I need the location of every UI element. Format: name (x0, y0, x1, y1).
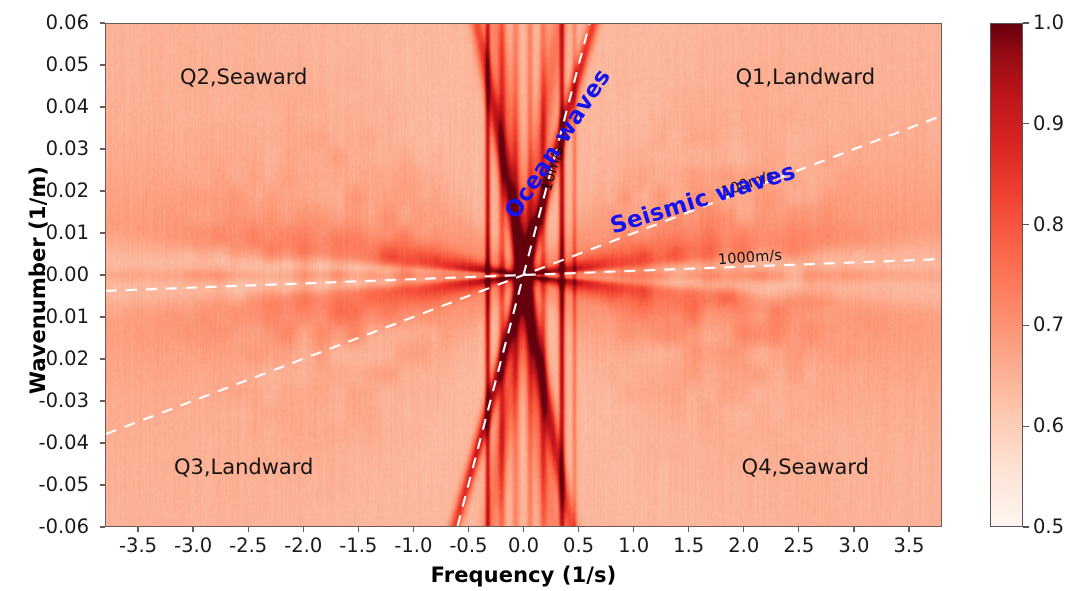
y-tick-label: -0.05 (39, 475, 89, 495)
y-tick-mark (100, 400, 105, 401)
x-tick-mark (248, 527, 249, 532)
x-axis-tick-labels: -3.5-3.0-2.5-2.0-1.5-1.0-0.50.00.51.01.5… (0, 536, 1087, 566)
colorbar-tick-mark (1023, 123, 1029, 124)
x-tick-mark (578, 527, 579, 532)
colorbar-tick-label: 0.6 (1033, 416, 1064, 436)
y-tick-label: -0.04 (39, 433, 89, 453)
y-tick-mark (100, 358, 105, 359)
y-axis-title: Wavenumber (1/m) (26, 130, 50, 430)
colorbar-tick-mark (1023, 224, 1029, 225)
colorbar-tick-mark (1023, 526, 1029, 527)
x-tick-mark (743, 527, 744, 532)
y-tick-label: 0.03 (46, 139, 89, 159)
y-tick-mark (100, 148, 105, 149)
colorbar-container[interactable]: 1.00.90.80.70.60.5 (990, 23, 1023, 527)
x-axis-title: Frequency (1/s) (105, 563, 942, 587)
y-tick-mark (100, 22, 105, 23)
x-tick-mark (688, 527, 689, 532)
colorbar-tick-label: 0.9 (1033, 114, 1064, 134)
y-tick-label: 0.02 (46, 181, 89, 201)
y-tick-label: 0.05 (46, 55, 89, 75)
y-tick-label: 0.04 (46, 97, 89, 117)
y-tick-label: 0.00 (46, 265, 89, 285)
quadrant-label-q4: Q4,Seaward (742, 455, 869, 479)
x-tick-mark (137, 527, 138, 532)
colorbar-tick-mark (1023, 22, 1029, 23)
x-tick-mark (358, 527, 359, 532)
colorbar-tick-mark (1023, 325, 1029, 326)
quadrant-label-q1: Q1,Landward (736, 65, 875, 89)
velocity-line-overlay (106, 24, 941, 526)
velocity-line-100m-per-s (106, 116, 941, 434)
y-tick-mark (100, 190, 105, 191)
y-tick-mark (100, 442, 105, 443)
colorbar-tick-label: 0.8 (1033, 215, 1064, 235)
colorbar-tick-mark (1023, 426, 1029, 427)
x-tick-mark (413, 527, 414, 532)
y-tick-mark (100, 274, 105, 275)
y-tick-mark (100, 526, 105, 527)
quadrant-label-q2: Q2,Seaward (180, 65, 307, 89)
colorbar-tick-label: 0.7 (1033, 315, 1064, 335)
colorbar-tick-label: 0.5 (1033, 517, 1064, 537)
x-tick-label: 3.5 (874, 536, 944, 556)
y-tick-mark (100, 316, 105, 317)
y-tick-label: 0.01 (46, 223, 89, 243)
x-tick-mark (523, 527, 524, 532)
y-tick-label: -0.06 (39, 517, 89, 537)
x-tick-mark (192, 527, 193, 532)
y-tick-mark (100, 484, 105, 485)
figure-root: Q2,Seaward Q1,Landward Q3,Landward Q4,Se… (0, 0, 1087, 591)
y-tick-label: 0.06 (46, 13, 89, 33)
x-tick-mark (908, 527, 909, 532)
y-tick-mark (100, 64, 105, 65)
quadrant-label-q3: Q3,Landward (174, 455, 313, 479)
y-tick-mark (100, 106, 105, 107)
x-tick-mark (798, 527, 799, 532)
x-tick-mark (853, 527, 854, 532)
colorbar-tick-label: 1.0 (1033, 13, 1064, 33)
colorbar-gradient (990, 23, 1023, 527)
x-tick-mark (633, 527, 634, 532)
x-tick-mark (303, 527, 304, 532)
y-tick-mark (100, 232, 105, 233)
heatmap-plot-area[interactable]: Q2,Seaward Q1,Landward Q3,Landward Q4,Se… (105, 23, 942, 527)
x-tick-mark (468, 527, 469, 532)
